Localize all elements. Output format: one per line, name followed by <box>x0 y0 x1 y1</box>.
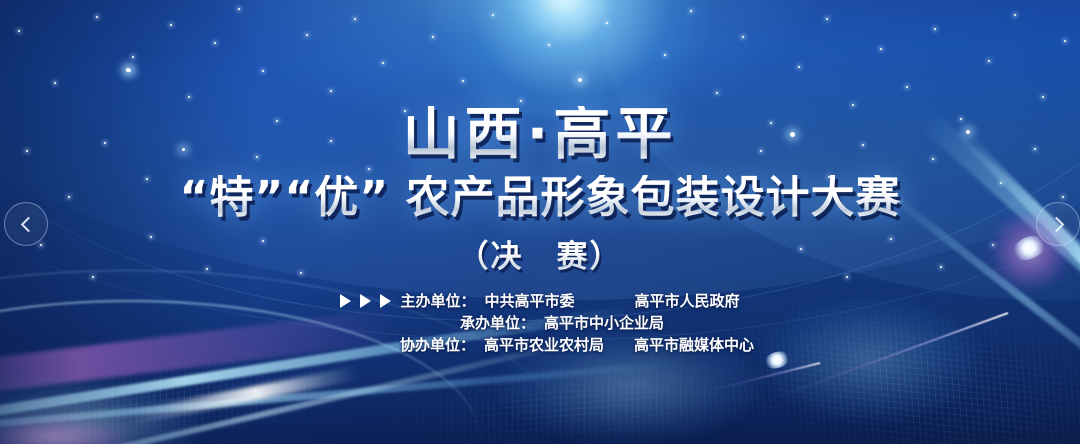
organizer-name-secondary: 高平市人民政府 <box>634 294 739 309</box>
page-title: 山西·高平 <box>0 106 1080 163</box>
triangle-icon <box>380 294 391 308</box>
organizer-label: 协办单位： <box>400 338 484 353</box>
organizer-row: 承办单位： 高平市中小企业局 <box>386 312 694 334</box>
organizer-name-primary: 高平市农业农村局 <box>484 338 634 353</box>
triangle-icon <box>360 294 371 308</box>
organizer-label: 主办单位： <box>400 294 484 309</box>
banner-subtitle: “特”“优” 农产品形象包装设计大赛 <box>0 175 1080 221</box>
organizer-label: 承办单位： <box>460 316 544 331</box>
promo-banner: 山西·高平 “特”“优” 农产品形象包装设计大赛 （决 赛） 主办单位： 中共高… <box>0 0 1080 444</box>
triple-triangle-icon <box>340 294 391 308</box>
chevron-left-icon <box>20 216 36 232</box>
organizer-row: 主办单位： 中共高平市委 高平市人民政府 <box>340 290 739 312</box>
organizer-list: 主办单位： 中共高平市委 高平市人民政府 承办单位： 高平市中小企业局 协办单位… <box>0 290 1080 356</box>
organizer-name-primary: 高平市中小企业局 <box>544 316 694 331</box>
organizer-name-primary: 中共高平市委 <box>484 294 634 309</box>
triangle-icon <box>340 294 351 308</box>
banner-stage-label: （决 赛） <box>0 231 1080 276</box>
chevron-right-icon <box>1048 216 1064 232</box>
banner-content: 山西·高平 “特”“优” 农产品形象包装设计大赛 （决 赛） <box>0 0 1080 276</box>
organizer-row: 协办单位： 高平市农业农村局 高平市融媒体中心 <box>326 334 754 356</box>
organizer-name-secondary: 高平市融媒体中心 <box>634 338 754 353</box>
carousel-prev-button[interactable] <box>4 202 48 246</box>
carousel-next-button[interactable] <box>1036 202 1080 246</box>
